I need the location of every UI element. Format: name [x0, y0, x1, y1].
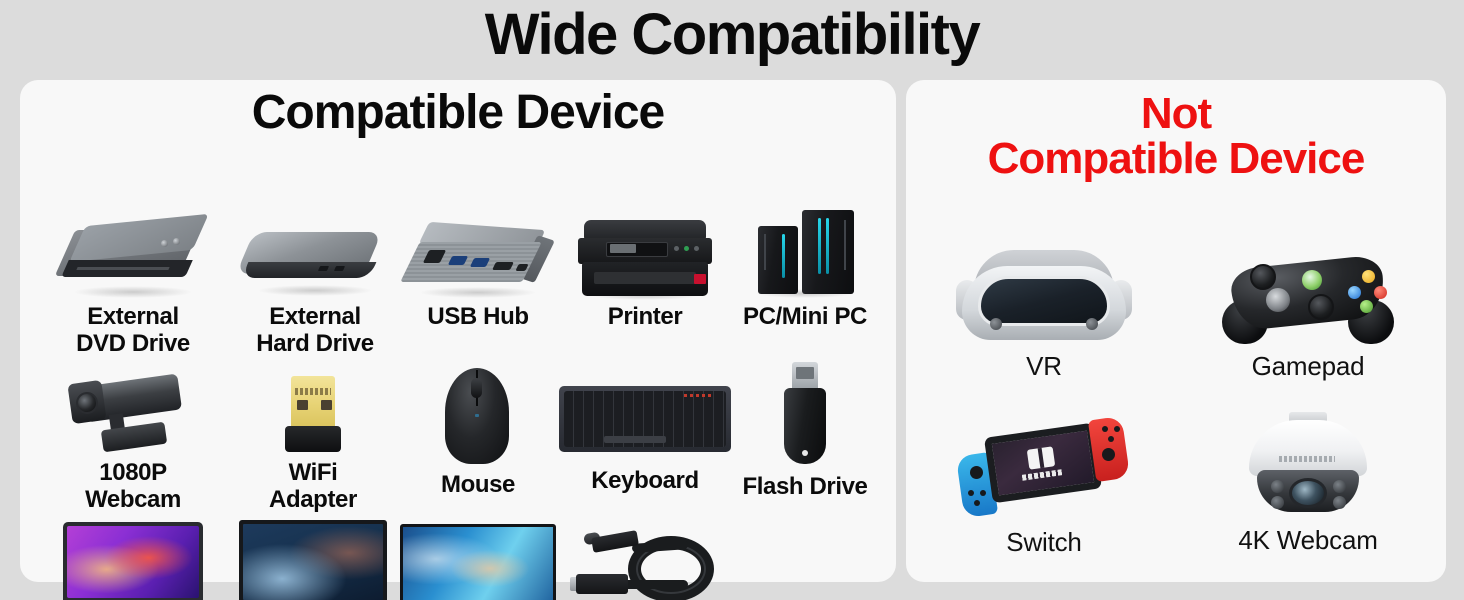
- device-label: 1080P Webcam: [28, 460, 238, 514]
- not-compatible-title-line1: Not: [906, 92, 1446, 137]
- device-cell-external-dvd-drive[interactable]: External DVD Drive: [28, 216, 238, 358]
- keyboard-icon: [555, 368, 735, 464]
- external-hard-drive-icon: [235, 216, 395, 300]
- usb-hub-icon: [398, 216, 558, 300]
- page-title: Wide Compatibility: [0, 0, 1464, 72]
- not-compatible-device-panel: Not Compatible Device VR: [906, 80, 1446, 582]
- compatibility-infographic: Wide Compatibility Compatible Device Ext…: [0, 0, 1464, 600]
- compatible-panel-title: Compatible Device: [20, 89, 896, 138]
- device-cell-switch[interactable]: Switch: [920, 414, 1168, 557]
- laptop-icon: [45, 520, 221, 600]
- device-cell-4k-webcam[interactable]: 4K Webcam: [1184, 410, 1432, 555]
- not-compatible-title-line2: Compatible Device: [906, 137, 1446, 182]
- device-label: Flash Drive: [710, 474, 900, 501]
- flash-drive-icon: [734, 358, 876, 470]
- device-cell-pc-mini-pc[interactable]: PC/Mini PC: [710, 204, 900, 331]
- device-label: 4K Webcam: [1184, 526, 1432, 555]
- device-label: PC/Mini PC: [710, 304, 900, 331]
- device-cell-laptop[interactable]: Laptop: [28, 520, 238, 600]
- not-compatible-panel-title: Not Compatible Device: [906, 92, 1446, 182]
- device-cell-gamepad[interactable]: Gamepad: [1184, 244, 1432, 381]
- tv-icon: [390, 522, 566, 600]
- device-label: Gamepad: [1184, 352, 1432, 381]
- device-label: Switch: [920, 528, 1168, 557]
- gamepad-icon: [1216, 244, 1400, 348]
- bullet-webcam-icon: [58, 368, 208, 456]
- device-cell-1080p-webcam[interactable]: 1080P Webcam: [28, 368, 238, 514]
- external-dvd-drive-icon: [53, 216, 213, 300]
- ptz-dome-camera-icon: [1215, 410, 1401, 522]
- device-cell-flash-drive[interactable]: Flash Drive: [710, 358, 900, 501]
- compatible-device-panel: Compatible Device External DVD Drive: [20, 80, 896, 582]
- device-label: VR: [920, 352, 1168, 381]
- game-console-switch-icon: [946, 414, 1142, 524]
- wifi-adapter-icon: [261, 368, 365, 456]
- device-cell-vr[interactable]: VR: [920, 244, 1168, 381]
- device-cell-usb-cable[interactable]: USB Cable: [545, 516, 745, 600]
- vr-headset-icon: [952, 244, 1136, 348]
- mouse-icon: [413, 362, 543, 468]
- pc-tower-icon: [740, 204, 870, 300]
- printer-icon: [570, 212, 720, 300]
- device-label: External DVD Drive: [28, 304, 238, 358]
- usb-cable-icon: [570, 516, 720, 600]
- monitor-icon: [225, 518, 401, 600]
